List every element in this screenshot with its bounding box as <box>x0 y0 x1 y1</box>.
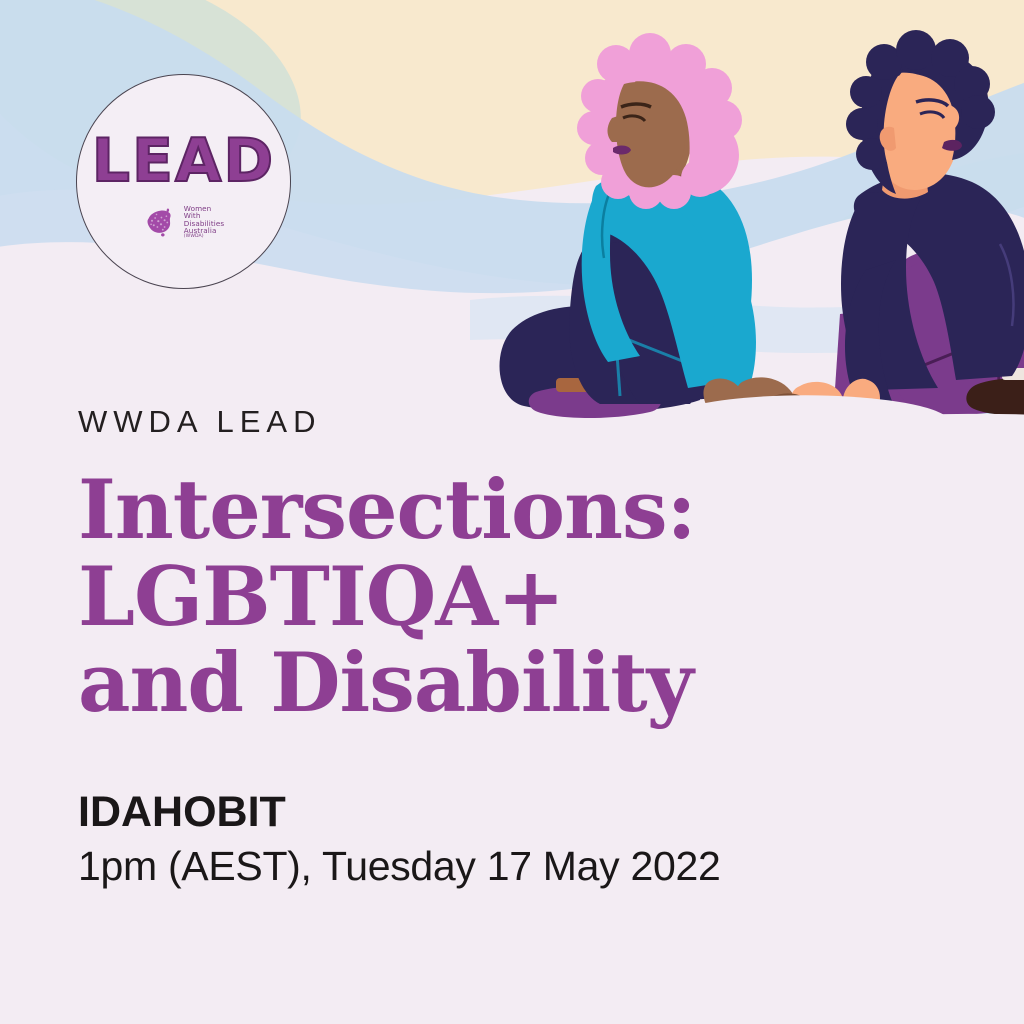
wwda-logo-text: Women With Disabilities Australia (WWDA) <box>184 205 224 240</box>
event-datetime: 1pm (AEST), Tuesday 17 May 2022 <box>78 843 958 890</box>
headline-line-3: and Disability <box>78 636 693 731</box>
event-subhead: IDAHOBIT <box>78 788 958 837</box>
poster-text-block: WWDA LEAD Intersections: LGBTIQA+ and Di… <box>78 404 958 890</box>
eyebrow-label: WWDA LEAD <box>78 404 958 440</box>
lead-logo-badge: LEAD Women W <box>76 74 291 289</box>
wwda-logo: Women With Disabilities Australia (WWDA) <box>143 205 224 240</box>
page-title: Intersections: LGBTIQA+ and Disability <box>78 468 758 728</box>
lead-wordmark: LEAD <box>92 131 275 191</box>
australia-map-icon <box>143 206 179 239</box>
headline-line-2: LGBTIQA+ <box>78 550 564 645</box>
poster-canvas: LEAD Women W <box>0 0 1024 1024</box>
wwda-abbreviation: (WWDA) <box>184 235 224 240</box>
headline-line-1: Intersections: <box>78 463 695 558</box>
